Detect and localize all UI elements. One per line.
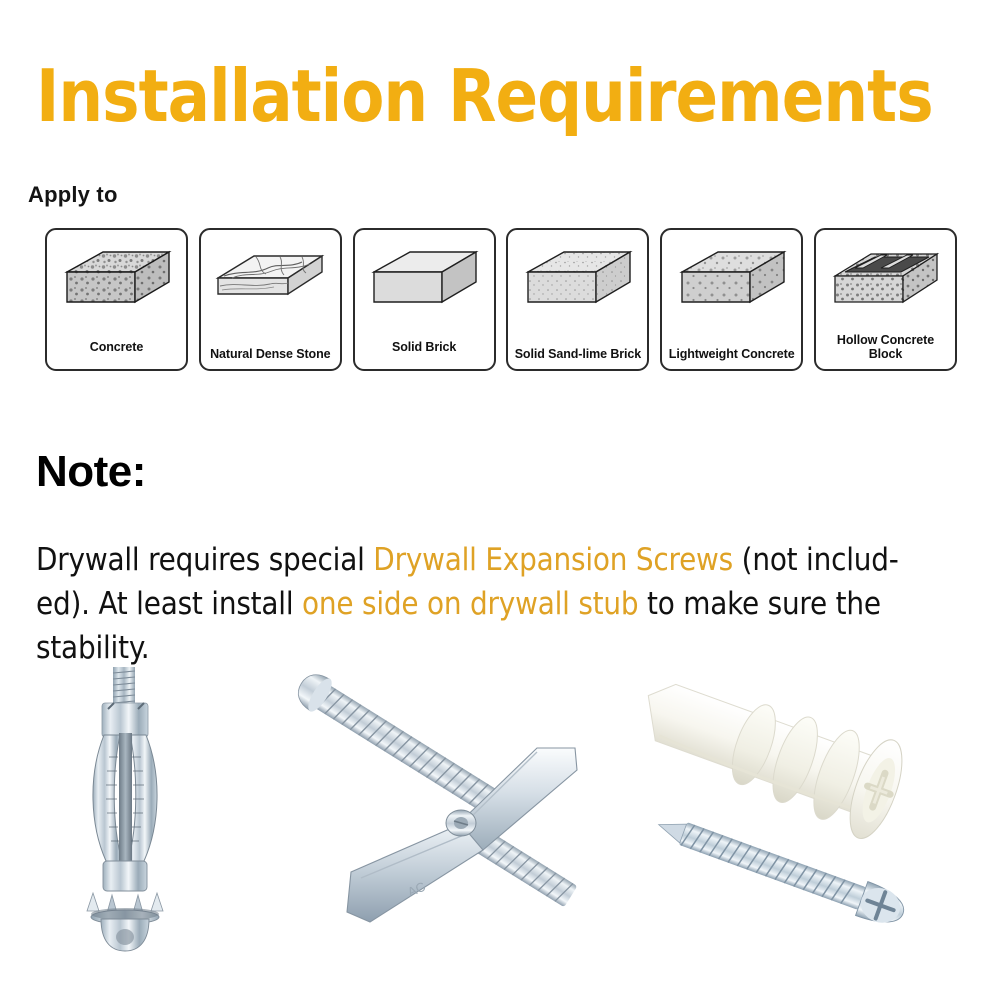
note-heading: Note: [36, 447, 146, 497]
material-card-concrete: Concrete [45, 228, 188, 371]
note-text: ed). At least install [36, 586, 302, 622]
material-card-lightweight-concrete: Lightweight Concrete [660, 228, 803, 371]
spring-toggle-bolt: AC [275, 660, 605, 950]
white-nylon-self-drilling-drywall-anchor [620, 660, 990, 960]
page-title: Installation Requirements [36, 58, 958, 134]
material-card-hollow-concrete-block: Hollow Concrete Block [814, 228, 957, 371]
note-text: (not includ- [733, 542, 899, 578]
material-label: Solid Brick [359, 340, 490, 354]
apply-to-label: Apply to [28, 182, 118, 208]
material-label: Concrete [51, 340, 182, 354]
note-highlight: one side on drywall stub [302, 586, 638, 622]
metal-hollow-wall-molly-anchor [60, 665, 300, 955]
solid-brick-icon [364, 242, 484, 314]
note-line-1: Drywall requires special Drywall Expansi… [36, 538, 981, 582]
concrete-block-icon [57, 242, 177, 314]
material-card-sand-lime-brick: Solid Sand-lime Brick [506, 228, 649, 371]
material-label: Solid Sand-lime Brick [512, 347, 643, 361]
lightweight-concrete-icon [672, 242, 792, 314]
note-text: to make sure the [638, 586, 880, 622]
infographic-page: Installation Requirements Apply to [0, 0, 1000, 1000]
hollow-concrete-block-icon [825, 242, 945, 314]
material-label: Hollow Concrete Block [820, 333, 951, 361]
note-body: Drywall requires special Drywall Expansi… [36, 538, 981, 670]
material-label: Natural Dense Stone [205, 347, 336, 361]
natural-stone-slab-icon [210, 242, 330, 314]
product-photo-row: AC [0, 655, 1000, 1000]
note-line-2: ed). At least install one side on drywal… [36, 582, 981, 626]
material-card-solid-brick: Solid Brick [353, 228, 496, 371]
note-text: Drywall requires special [36, 542, 373, 578]
note-highlight: Drywall Expansion Screws [373, 542, 733, 578]
material-card-natural-dense-stone: Natural Dense Stone [199, 228, 342, 371]
material-label: Lightweight Concrete [666, 347, 797, 361]
material-box-row: Concrete Natural Dense Stone [45, 228, 957, 372]
sand-lime-brick-icon [518, 242, 638, 314]
